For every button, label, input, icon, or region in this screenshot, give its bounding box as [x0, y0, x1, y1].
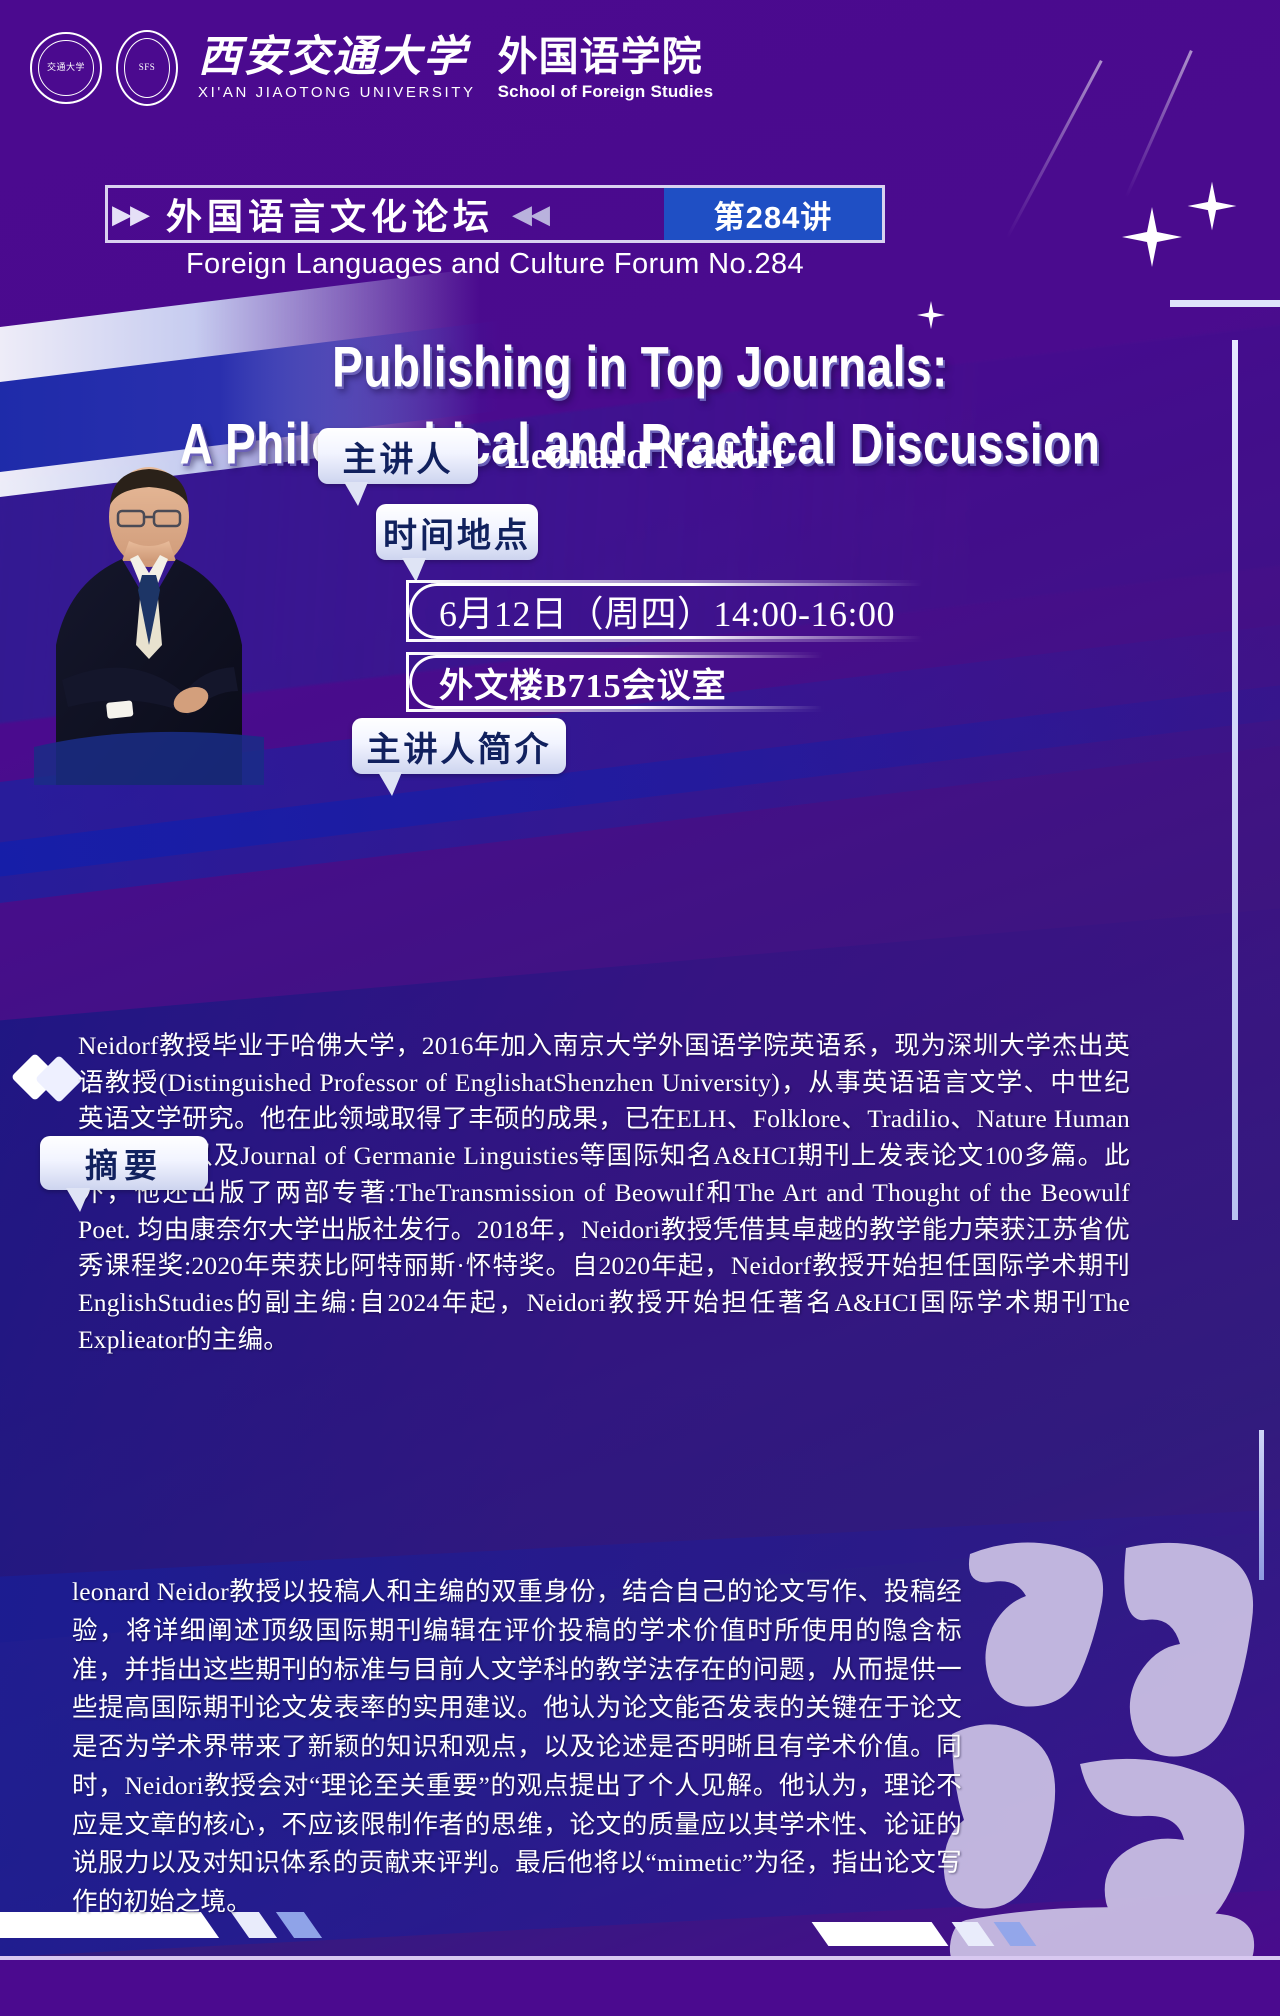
forum-banner: ▶▶ 外国语言文化论坛 ◀◀ 第284讲 [105, 185, 885, 243]
school-seal-text: SFS [139, 63, 156, 72]
schedule-room-text: 外文楼B715会议室 [409, 658, 727, 707]
issue-badge: 第284讲 [664, 188, 882, 240]
university-name-cn: 西安交通大学 [198, 35, 476, 80]
school-name-block: 外国语学院 School of Foreign Studies [498, 35, 714, 102]
speaker-label-bubble: 主讲人 [318, 428, 478, 484]
arrow-right-icon: ▶▶ [112, 199, 148, 230]
poster-root: 交通大学 SFS 西安交通大学 XI'AN JIAOTONG UNIVERSIT… [0, 0, 1280, 2016]
schedule-date-pill: 6月12日（周四）14:00-16:00 [406, 580, 926, 642]
university-seal-text: 交通大学 [47, 63, 85, 72]
forum-title-cn: 外国语言文化论坛 [166, 188, 494, 240]
stripe-4 [812, 1922, 949, 1946]
star-trail-1 [1006, 60, 1103, 238]
schedule-date-text: 6月12日（周四）14:00-16:00 [409, 585, 895, 637]
forum-title-en-wrap: Foreign Languages and Culture Forum No.2… [105, 248, 885, 281]
bio-text: Neidorf教授毕业于哈佛大学，2016年加入南京大学外国语学院英语系，现为深… [78, 1028, 1130, 1358]
bio-label-bubble: 主讲人简介 [352, 718, 566, 774]
arrow-left-icon: ◀◀ [512, 199, 548, 230]
university-name-block: 西安交通大学 XI'AN JIAOTONG UNIVERSITY [198, 35, 476, 100]
stripe-5 [952, 1922, 995, 1946]
sparkle-icon-2 [1186, 180, 1238, 232]
sparkle-icon-1 [1120, 205, 1184, 269]
star-trail-2 [1125, 50, 1193, 197]
schedule-room-pill: 外文楼B715会议室 [406, 652, 826, 712]
bottom-bar [0, 1960, 1280, 2016]
corner-stripes-right [820, 1918, 1080, 1958]
title-line-1: Publishing in Top Journals: [0, 330, 1280, 404]
university-seal-icon: 交通大学 [30, 32, 102, 104]
school-seal-icon: SFS [116, 30, 178, 106]
stripe-6 [994, 1922, 1037, 1946]
forum-title-en: Foreign Languages and Culture Forum No.2… [186, 248, 804, 280]
school-name-en: School of Foreign Studies [498, 82, 714, 102]
speaker-name: Leonard Neidorf [505, 434, 786, 478]
schedule-label-bubble: 时间地点 [376, 504, 538, 560]
header-logo-row: 交通大学 SFS 西安交通大学 XI'AN JIAOTONG UNIVERSIT… [30, 30, 713, 106]
sparkle-icon-3 [916, 300, 946, 330]
school-name-cn: 外国语学院 [498, 35, 714, 79]
university-name-en: XI'AN JIAOTONG UNIVERSITY [198, 84, 476, 101]
abstract-label-bubble: 摘要 [40, 1136, 208, 1190]
speaker-portrait [34, 455, 264, 785]
abstract-text: leonard Neidor教授以投稿人和主编的双重身份，结合自己的论文写作、投… [72, 1573, 962, 1922]
